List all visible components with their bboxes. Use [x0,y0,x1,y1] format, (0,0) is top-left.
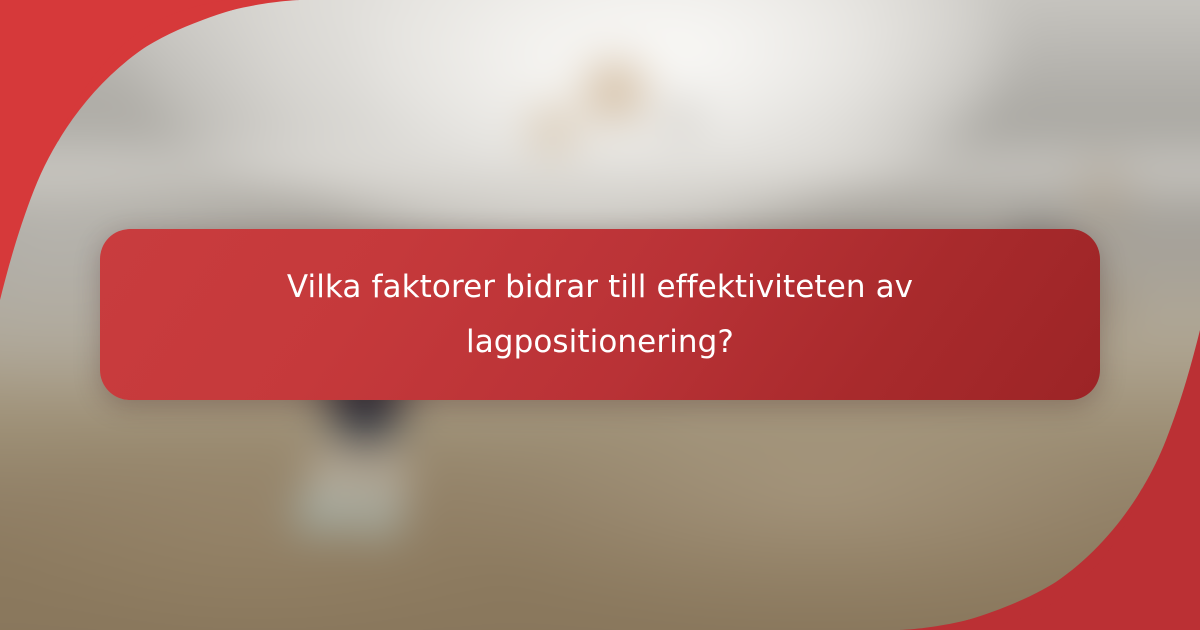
background-ball-blur-secondary [526,105,580,157]
question-title: Vilka faktorer bidrar till effektivitete… [210,260,990,370]
background-wall-band-lower [0,175,1200,211]
background-ball-blur [580,60,650,126]
share-card-canvas: Vilka faktorer bidrar till effektivitete… [0,0,1200,630]
background-floor-glow-left [0,410,520,630]
background-player-shoe-right [348,496,404,538]
question-card: Vilka faktorer bidrar till effektivitete… [100,229,1100,400]
background-player-shoe-left [292,492,348,534]
background-hand-blur [658,98,702,140]
background-object-right-upper [1068,150,1138,240]
